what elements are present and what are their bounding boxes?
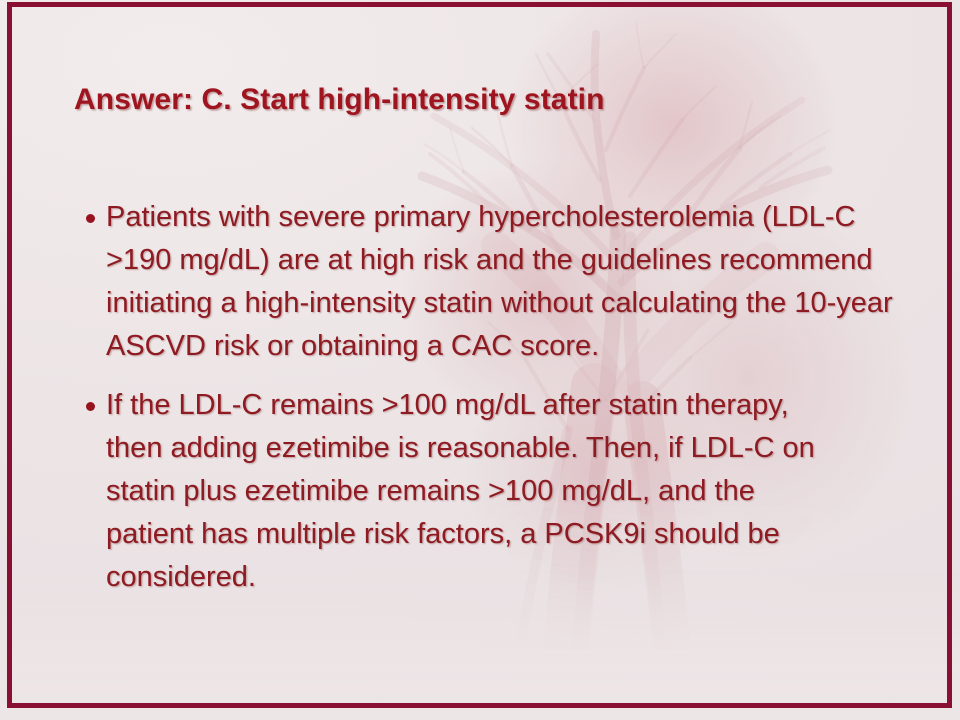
bullet-list: Patients with severe primary hypercholes… [82,196,912,599]
slide-title: Answer: C. Start high-intensity statin [74,80,894,120]
presentation-slide: Answer: C. Start high-intensity statin P… [0,0,960,720]
bullet-dot-icon [86,214,95,223]
list-item: If the LDL-C remains >100 mg/dL after st… [82,384,912,599]
slide-content: Answer: C. Start high-intensity statin P… [0,0,960,720]
list-item-text: Patients with severe primary hypercholes… [106,196,906,368]
list-item: Patients with severe primary hypercholes… [82,196,912,368]
list-item-text: If the LDL-C remains >100 mg/dL after st… [106,384,818,599]
bullet-dot-icon [86,402,95,411]
